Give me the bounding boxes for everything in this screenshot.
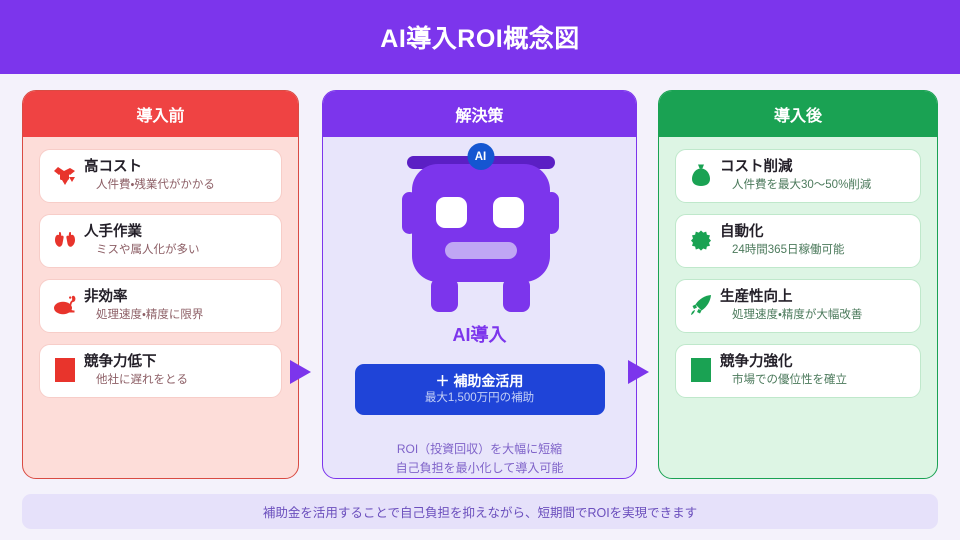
list-item-desc: 24時間365日稼働可能 [720,243,908,257]
column-after-body: コスト削減 人件費を最大30〜50%削減 自動化 24時間365日稼働可能 [659,137,937,419]
list-item-text: 人手作業 ミスや属人化が多い [84,224,269,257]
ai-robot-illustration: AI [323,137,637,307]
list-item-desc: 処理速度・精度に限界 [84,308,269,322]
list-item-text: 非効率 処理速度・精度に限界 [84,289,269,322]
money-bag-icon [688,160,714,190]
list-item-desc: 人件費・残業代がかかる [84,178,269,192]
column-before-heading: 導入前 [23,91,298,137]
rocket-icon [688,290,714,320]
list-item-text: コスト削減 人件費を最大30〜50%削減 [720,159,908,192]
arrow-solution-to-after [628,360,649,384]
subsidy-button[interactable]: ＋ 補助金活用 最大1,500万円の補助 [355,364,605,415]
list-item-title: 人手作業 [84,224,269,241]
robot-leg-left [431,278,458,312]
list-item-text: 競争力強化 市場での優位性を確立 [720,354,908,387]
money-with-wings-icon [52,160,78,190]
plus-icon: ＋ [436,373,450,389]
list-item-text: 高コスト 人件費・残業代がかかる [84,159,269,192]
missing-glyph-block-icon [688,355,714,385]
solution-note-line: ROI（投資回収）を大幅に短縮 [323,440,636,459]
list-item-title: 自動化 [720,224,908,241]
list-item-title: 非効率 [84,289,269,306]
footer-banner: 補助金を活用することで自己負担を抑えながら、短期間でROIを実現できます [22,494,938,529]
robot-eye-right [493,197,524,228]
footer-text: 補助金を活用することで自己負担を抑えながら、短期間でROIを実現できます [263,502,697,521]
robot-leg-right [503,278,530,312]
list-item[interactable]: 生産性向上 処理速度・精度が大幅改善 [675,279,921,333]
column-solution: 解決策 AI AI導入 [322,90,637,479]
subsidy-button-label: ＋ 補助金活用 [355,372,605,390]
list-item-desc: 他社に遅れをとる [84,373,269,387]
list-item-desc: 人件費を最大30〜50%削減 [720,178,908,192]
raising-hands-icon [52,225,78,255]
list-item[interactable]: 競争力強化 市場での優位性を確立 [675,344,921,398]
list-item-desc: 処理速度・精度が大幅改善 [720,308,908,322]
list-item-title: 生産性向上 [720,289,908,306]
column-after-heading: 導入後 [659,91,937,137]
column-before: 導入前 高コスト 人件費・残業代がかかる [22,90,299,479]
page-title: AI導入ROI概念図 [380,19,579,55]
list-item[interactable]: コスト削減 人件費を最大30〜50%削減 [675,149,921,203]
columns-area: 導入前 高コスト 人件費・残業代がかかる [0,90,960,480]
list-item-text: 生産性向上 処理速度・精度が大幅改善 [720,289,908,322]
list-item-title: 競争力低下 [84,354,269,371]
list-item[interactable]: 高コスト 人件費・残業代がかかる [39,149,282,203]
list-item-desc: ミスや属人化が多い [84,243,269,257]
page-header: AI導入ROI概念図 [0,0,960,74]
column-solution-body: AI AI導入 ＋ 補助金活用 [323,137,636,478]
subsidy-button-sublabel: 最大1,500万円の補助 [355,390,605,406]
snail-icon [52,290,78,320]
roi-concept-diagram: AI導入ROI概念図 導入前 [0,0,960,540]
gear-icon [688,225,714,255]
list-item[interactable]: 非効率 処理速度・精度に限界 [39,279,282,333]
arrow-before-to-solution [290,360,311,384]
column-before-body: 高コスト 人件費・残業代がかかる 人手作業 ミスや属人化が多い [23,137,298,419]
list-item[interactable]: 競争力低下 他社に遅れをとる [39,344,282,398]
solution-note-line: 自己負担を最小化して導入可能 [323,459,636,478]
list-item-title: 高コスト [84,159,269,176]
list-item[interactable]: 人手作業 ミスや属人化が多い [39,214,282,268]
robot-eye-left [436,197,467,228]
subsidy-button-text: 補助金活用 [453,373,523,389]
column-after: 導入後 コスト削減 人件費を最大30〜50%削減 [658,90,938,479]
ai-badge: AI [467,143,494,170]
robot-head [412,164,550,282]
list-item-text: 自動化 24時間365日稼働可能 [720,224,908,257]
missing-glyph-block-icon [52,355,78,385]
column-solution-heading: 解決策 [323,91,636,137]
list-item[interactable]: 自動化 24時間365日稼働可能 [675,214,921,268]
list-item-text: 競争力低下 他社に遅れをとる [84,354,269,387]
list-item-title: 競争力強化 [720,354,908,371]
ai-adoption-label: AI導入 [323,321,636,347]
list-item-title: コスト削減 [720,159,908,176]
robot-mouth [445,242,517,259]
solution-notes: ROI（投資回収）を大幅に短縮 自己負担を最小化して導入可能 [323,440,636,478]
list-item-desc: 市場での優位性を確立 [720,373,908,387]
